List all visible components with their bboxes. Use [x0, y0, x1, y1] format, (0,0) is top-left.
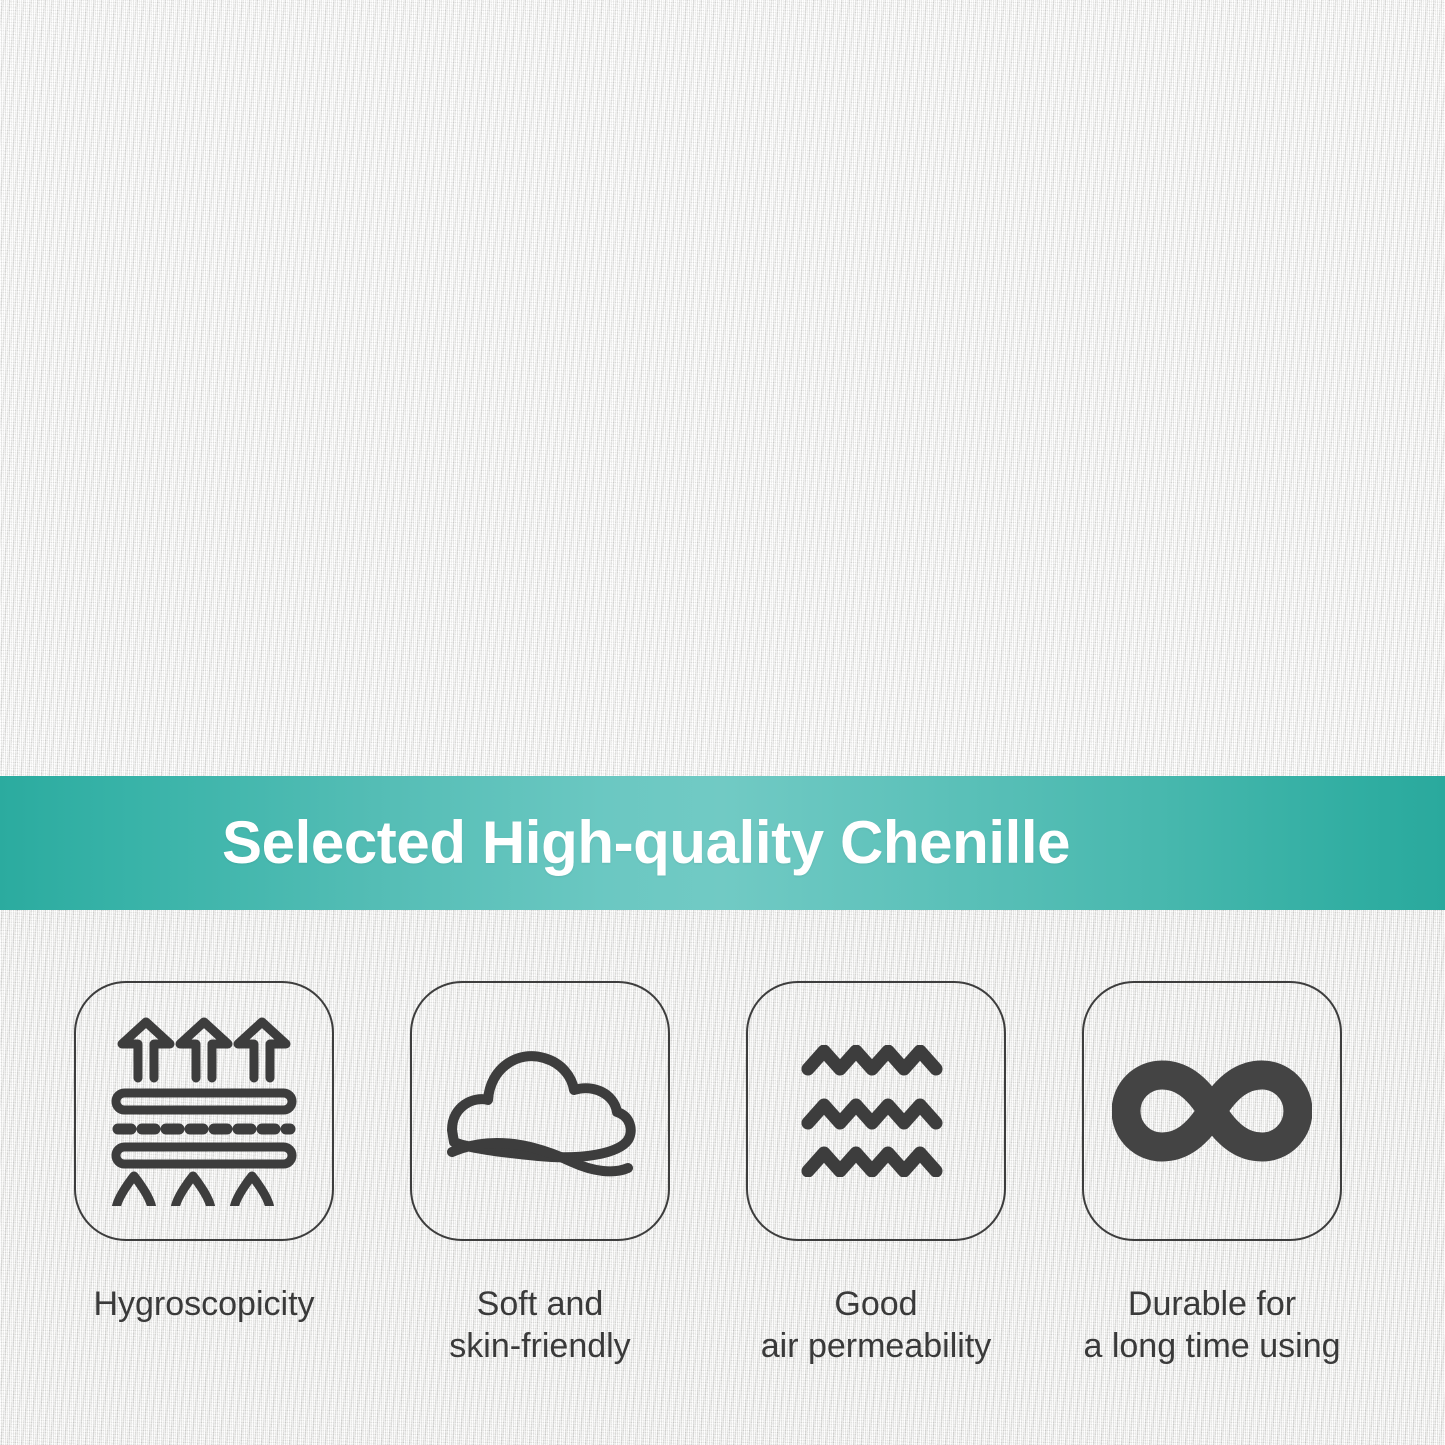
feature-item-durability: Durable for a long time using [1081, 981, 1343, 1367]
feature-caption-1: Hygroscopicity [93, 1283, 314, 1325]
feature-list: Hygroscopicity Soft and skin-friendly [73, 981, 1343, 1367]
infinity-icon [1112, 1059, 1312, 1163]
feature-caption-4: Durable for a long time using [1083, 1283, 1340, 1367]
airflow-zigzag-icon [800, 1045, 952, 1177]
feature-caption-2: Soft and skin-friendly [449, 1283, 630, 1367]
feature-caption-3: Good air permeability [761, 1283, 992, 1367]
feature-item-air-permeability: Good air permeability [745, 981, 1007, 1367]
feature-item-softness: Soft and skin-friendly [409, 981, 671, 1367]
product-feature-infographic: Selected High-quality Chenille [0, 0, 1445, 1445]
fabric-texture-top [0, 0, 1445, 780]
feature-item-hygroscopicity: Hygroscopicity [73, 981, 335, 1325]
icon-box-4 [1082, 981, 1342, 1241]
cloud-softness-icon [442, 1036, 638, 1186]
icon-box-2 [410, 981, 670, 1241]
icon-box-3 [746, 981, 1006, 1241]
headline-banner: Selected High-quality Chenille [0, 776, 1445, 910]
moisture-absorption-icon [104, 1016, 304, 1206]
icon-box-1 [74, 981, 334, 1241]
banner-title: Selected High-quality Chenille [0, 813, 1070, 873]
